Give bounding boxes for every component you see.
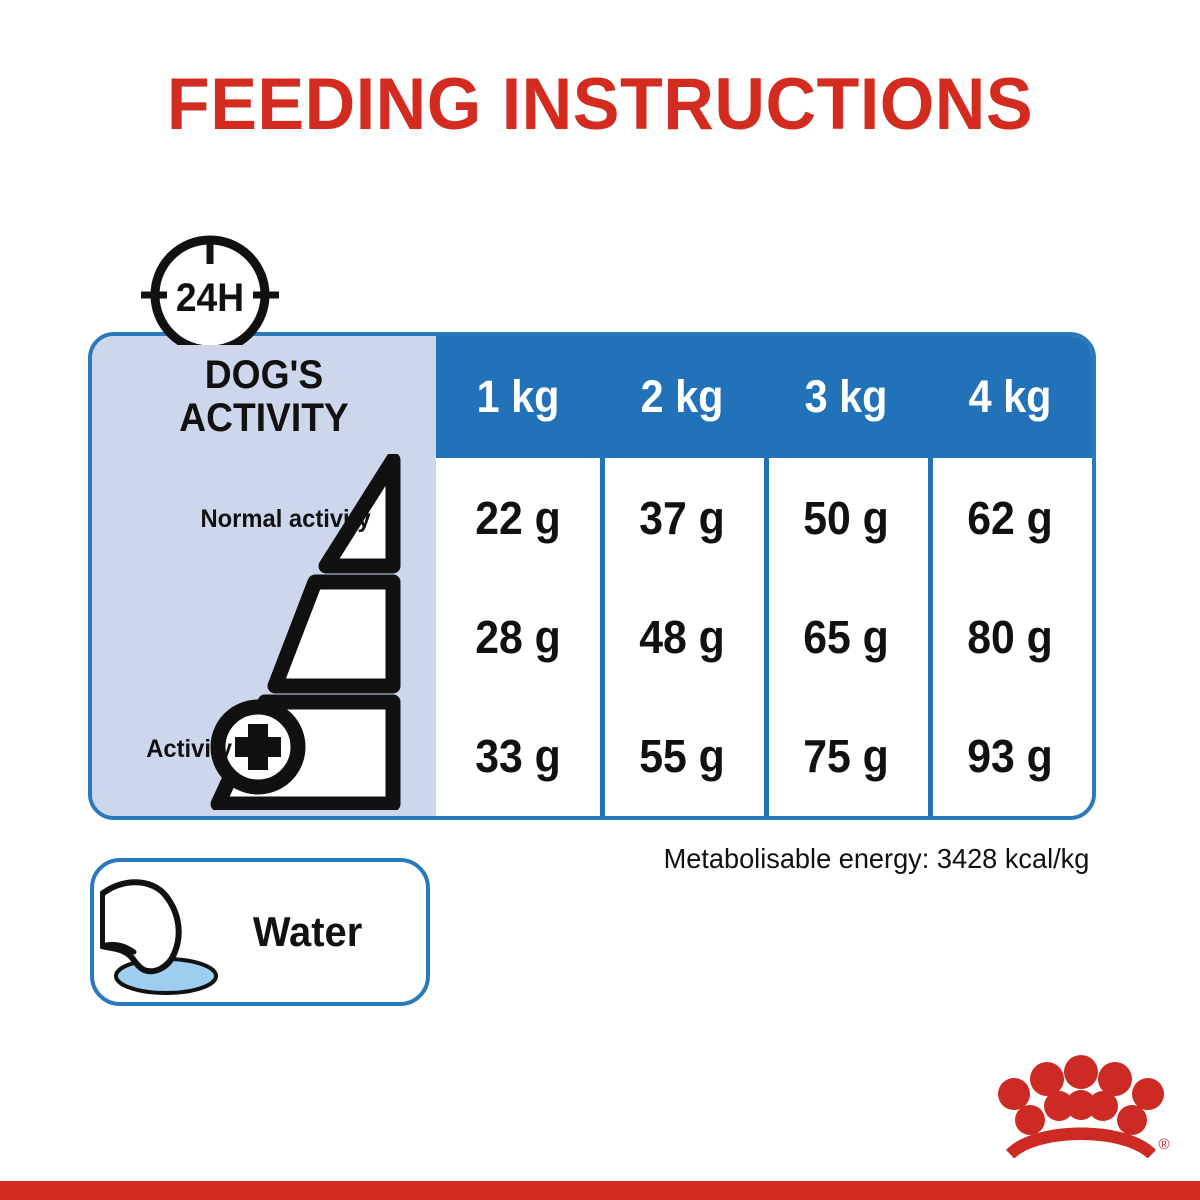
- dog-drinking-water-icon: [100, 870, 252, 1002]
- table-cell: 65 g: [770, 577, 923, 696]
- page-title: FEEDING INSTRUCTIONS: [24, 68, 1176, 141]
- value-column-3kg: 50 g 65 g 75 g: [764, 458, 928, 816]
- activity-label-normal: Normal activity: [200, 505, 370, 534]
- feeding-table: 1 kg 2 kg 3 kg 4 kg DOG'S ACTIVITY: [88, 332, 1096, 820]
- feeding-instructions-page: FEEDING INSTRUCTIONS 24H 1 kg 2 kg 3 kg …: [0, 0, 1200, 1200]
- activity-legend-cell: Normal activity Activity: [92, 458, 436, 816]
- metabolisable-energy-note: Metabolisable energy: 3428 kcal/kg: [664, 843, 1090, 875]
- bottom-red-bar: [0, 1181, 1200, 1200]
- value-column-2kg: 37 g 48 g 55 g: [600, 458, 764, 816]
- table-cell: 93 g: [934, 697, 1087, 816]
- dogs-activity-header-line1: DOG'S: [205, 354, 323, 397]
- table-cell: 55 g: [606, 697, 759, 816]
- weight-column-header-4: 4 kg: [935, 336, 1086, 458]
- table-cell: 22 g: [442, 458, 595, 577]
- value-column-1kg: 22 g 28 g 33 g: [436, 458, 600, 816]
- activity-label-extra: Activity: [146, 735, 232, 764]
- water-label: Water: [253, 862, 362, 1002]
- table-cell: 75 g: [770, 697, 923, 816]
- value-column-4kg: 62 g 80 g 93 g: [928, 458, 1092, 816]
- weights-header-row: 1 kg 2 kg 3 kg 4 kg: [436, 336, 1092, 458]
- table-cell: 50 g: [770, 458, 923, 577]
- table-cell: 80 g: [934, 577, 1087, 696]
- royal-canin-crown-logo: ®: [990, 1050, 1172, 1158]
- dogs-activity-header-line2: ACTIVITY: [179, 397, 348, 440]
- weight-column-header-2: 2 kg: [607, 336, 758, 458]
- table-cell: 48 g: [606, 577, 759, 696]
- table-body: Normal activity Activity 22 g 28 g 33 g …: [92, 458, 1092, 816]
- values-grid: 22 g 28 g 33 g 37 g 48 g 55 g 50 g 65 g …: [436, 458, 1092, 816]
- dogs-activity-header: DOG'S ACTIVITY: [104, 336, 424, 458]
- registered-mark: ®: [1158, 1136, 1169, 1153]
- table-cell: 37 g: [606, 458, 759, 577]
- clock-24h-icon: 24H: [135, 233, 285, 345]
- table-cell: 62 g: [934, 458, 1087, 577]
- svg-text:24H: 24H: [176, 276, 244, 321]
- water-card: Water: [90, 858, 430, 1006]
- weight-column-header-3: 3 kg: [771, 336, 922, 458]
- table-cell: 33 g: [442, 697, 595, 816]
- weight-column-header-1: 1 kg: [443, 336, 594, 458]
- table-cell: 28 g: [442, 577, 595, 696]
